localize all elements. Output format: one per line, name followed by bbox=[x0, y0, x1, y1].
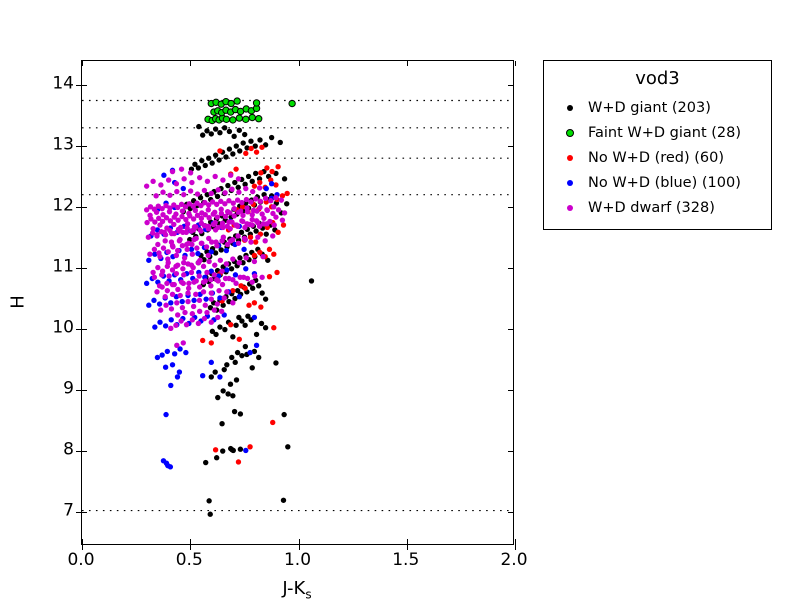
x-tick-mark bbox=[299, 539, 300, 544]
scatter-point bbox=[199, 158, 204, 163]
scatter-point bbox=[209, 131, 214, 136]
scatter-point bbox=[150, 270, 155, 275]
scatter-point bbox=[220, 177, 225, 182]
scatter-point bbox=[203, 303, 208, 308]
scatter-point bbox=[281, 412, 286, 417]
scatter-point bbox=[198, 228, 203, 233]
scatter-point bbox=[228, 382, 233, 387]
scatter-point bbox=[203, 296, 208, 301]
y-tick-mark bbox=[508, 146, 513, 147]
y-tick-mark bbox=[508, 85, 513, 86]
scatter-point bbox=[181, 192, 186, 197]
scatter-point bbox=[155, 242, 160, 247]
scatter-point bbox=[251, 208, 256, 213]
scatter-point bbox=[161, 245, 166, 250]
scatter-point bbox=[201, 264, 206, 269]
legend-title: vod3 bbox=[552, 68, 763, 91]
scatter-point bbox=[250, 286, 255, 291]
scatter-point bbox=[162, 294, 167, 299]
scatter-point bbox=[224, 289, 229, 294]
scatter-point bbox=[181, 176, 186, 181]
x-tick-label: 1.0 bbox=[284, 552, 311, 569]
scatter-point bbox=[200, 338, 205, 343]
scatter-point bbox=[197, 273, 202, 278]
scatter-point bbox=[223, 214, 228, 219]
scatter-point bbox=[212, 262, 217, 267]
scatter-point bbox=[174, 253, 179, 258]
scatter-point bbox=[230, 256, 235, 261]
scatter-point bbox=[230, 393, 235, 398]
scatter-point bbox=[270, 420, 275, 425]
scatter-point bbox=[238, 447, 243, 452]
scatter-point bbox=[188, 188, 193, 193]
scatter-point bbox=[253, 228, 258, 233]
y-tick-mark bbox=[82, 390, 87, 391]
scatter-point bbox=[217, 374, 222, 379]
scatter-point bbox=[239, 318, 244, 323]
scatter-point bbox=[215, 315, 220, 320]
y-axis-title: H bbox=[8, 295, 29, 309]
scatter-point bbox=[212, 272, 217, 277]
legend-entry-label: No W+D (blue) (100) bbox=[588, 176, 741, 191]
scatter-point bbox=[243, 344, 248, 349]
scatter-point bbox=[164, 281, 169, 286]
legend-marker-dot-icon bbox=[567, 205, 573, 211]
x-tick-mark bbox=[407, 539, 408, 544]
scatter-point bbox=[185, 299, 190, 304]
scatter-point bbox=[242, 286, 247, 291]
y-tick-mark bbox=[82, 146, 87, 147]
scatter-point bbox=[263, 196, 268, 201]
scatter-point bbox=[252, 253, 257, 258]
y-tick-mark bbox=[508, 207, 513, 208]
legend-entry-faint_wd_giant[interactable]: Faint W+D giant (28) bbox=[552, 121, 763, 146]
scatter-point bbox=[174, 343, 179, 348]
scatter-point bbox=[163, 412, 168, 417]
scatter-point bbox=[223, 116, 229, 122]
scatter-point bbox=[169, 231, 174, 236]
y-tick-mark bbox=[508, 451, 513, 452]
scatter-point bbox=[250, 189, 255, 194]
scatter-point bbox=[271, 252, 276, 257]
scatter-point bbox=[213, 332, 218, 337]
scatter-point bbox=[216, 288, 221, 293]
scatter-point bbox=[209, 340, 214, 345]
scatter-point bbox=[171, 222, 176, 227]
scatter-point bbox=[180, 299, 185, 304]
x-tick-mark bbox=[190, 539, 191, 544]
scatter-point bbox=[144, 281, 149, 286]
scatter-point bbox=[264, 165, 269, 170]
legend-marker-cell bbox=[552, 180, 588, 186]
scatter-point bbox=[227, 146, 232, 151]
scatter-point bbox=[222, 125, 227, 130]
scatter-point bbox=[253, 100, 259, 106]
scatter-point bbox=[245, 276, 250, 281]
scatter-point bbox=[264, 221, 269, 226]
scatter-point bbox=[270, 233, 275, 238]
scatter-point bbox=[238, 208, 243, 213]
scatter-point bbox=[249, 114, 255, 120]
scatter-point bbox=[159, 352, 164, 357]
scatter-point bbox=[170, 362, 175, 367]
scatter-point bbox=[177, 369, 182, 374]
legend-marker-cell bbox=[552, 205, 588, 211]
scatter-point bbox=[200, 132, 205, 137]
y-tick-mark bbox=[508, 512, 513, 513]
scatter-point bbox=[206, 259, 211, 264]
legend-entry-no_wd_blue[interactable]: No W+D (blue) (100) bbox=[552, 171, 763, 196]
scatter-point bbox=[274, 270, 279, 275]
scatter-point bbox=[216, 278, 221, 283]
scatter-point bbox=[195, 251, 200, 256]
scatter-point bbox=[217, 148, 222, 153]
scatter-point bbox=[206, 207, 211, 212]
scatter-point bbox=[280, 217, 285, 222]
scatter-point bbox=[174, 189, 179, 194]
scatter-point bbox=[216, 157, 221, 162]
legend-marker-dot-icon bbox=[567, 180, 573, 186]
scatter-point bbox=[237, 128, 242, 133]
scatter-point bbox=[228, 100, 234, 106]
scatter-point bbox=[169, 317, 174, 322]
scatter-point bbox=[158, 307, 163, 312]
scatter-point bbox=[197, 284, 202, 289]
scatter-point bbox=[209, 296, 214, 301]
scatter-point bbox=[146, 258, 151, 263]
scatter-point bbox=[262, 238, 267, 243]
figure-canvas: 7891011121314 0.00.51.01.52.0 H J-Ks vod… bbox=[0, 0, 812, 612]
scatter-point bbox=[197, 309, 202, 314]
scatter-point bbox=[178, 293, 183, 298]
scatter-point bbox=[273, 360, 278, 365]
y-tick-label: 14 bbox=[52, 76, 74, 93]
scatter-point bbox=[255, 235, 260, 240]
scatter-point bbox=[237, 294, 242, 299]
scatter-point bbox=[246, 174, 251, 179]
scatter-point bbox=[256, 283, 261, 288]
scatter-point bbox=[242, 132, 247, 137]
scatter-point bbox=[244, 255, 249, 260]
scatter-point bbox=[250, 279, 255, 284]
scatter-point bbox=[260, 254, 265, 259]
scatter-point bbox=[205, 179, 210, 184]
scatter-point bbox=[237, 337, 242, 342]
scatter-point bbox=[241, 247, 246, 252]
scatter-point bbox=[177, 238, 182, 243]
scatter-point bbox=[271, 204, 276, 209]
scatter-point bbox=[150, 226, 155, 231]
y-tick-mark bbox=[82, 451, 87, 452]
scatter-point bbox=[224, 267, 229, 272]
scatter-point bbox=[194, 278, 199, 283]
scatter-point bbox=[230, 151, 235, 156]
legend-entry-wd_giant[interactable]: W+D giant (203) bbox=[552, 96, 763, 121]
scatter-point bbox=[163, 303, 168, 308]
scatter-point bbox=[152, 275, 157, 280]
scatter-point bbox=[173, 264, 178, 269]
scatter-point bbox=[193, 208, 198, 213]
scatter-point bbox=[247, 444, 252, 449]
y-tick-mark bbox=[82, 329, 87, 330]
scatter-point bbox=[199, 221, 204, 226]
scatter-point bbox=[309, 278, 314, 283]
scatter-point bbox=[213, 239, 218, 244]
scatter-point bbox=[221, 235, 226, 240]
scatter-point bbox=[151, 298, 156, 303]
scatter-point bbox=[256, 355, 261, 360]
scatter-point bbox=[197, 298, 202, 303]
y-tick-mark bbox=[508, 268, 513, 269]
legend-marker-cell bbox=[552, 155, 588, 161]
scatter-point bbox=[254, 149, 259, 154]
scatter-point bbox=[242, 225, 247, 230]
legend-entry-wd_dwarf[interactable]: W+D dwarf (328) bbox=[552, 196, 763, 221]
scatter-point bbox=[234, 377, 239, 382]
scatter-point bbox=[219, 269, 224, 274]
scatter-point bbox=[259, 290, 264, 295]
scatter-point bbox=[204, 128, 209, 133]
scatter-point bbox=[191, 237, 196, 242]
scatter-point bbox=[206, 226, 211, 231]
scatter-point bbox=[233, 323, 238, 328]
scatter-point bbox=[202, 316, 207, 321]
scatter-point bbox=[224, 362, 229, 367]
scatter-point bbox=[248, 239, 253, 244]
scatter-point bbox=[212, 220, 217, 225]
legend-entry-label: Faint W+D giant (28) bbox=[588, 126, 741, 141]
scatter-point bbox=[152, 247, 157, 252]
scatter-point bbox=[175, 287, 180, 292]
scatter-point bbox=[269, 169, 274, 174]
y-tick-label: 13 bbox=[52, 137, 74, 154]
scatter-point bbox=[157, 320, 162, 325]
scatter-point bbox=[161, 173, 166, 178]
y-tick-label: 12 bbox=[52, 198, 74, 215]
scatter-point bbox=[269, 135, 274, 140]
scatter-point bbox=[231, 206, 236, 211]
scatter-point bbox=[197, 175, 202, 180]
scatter-point bbox=[257, 205, 262, 210]
scatter-point bbox=[259, 275, 264, 280]
scatter-point bbox=[186, 281, 191, 286]
scatter-point bbox=[184, 322, 189, 327]
scatter-point bbox=[174, 181, 179, 186]
x-tick-mark bbox=[515, 61, 516, 66]
scatter-point bbox=[230, 334, 235, 339]
scatter-point bbox=[180, 305, 185, 310]
scatter-point bbox=[166, 273, 171, 278]
scatter-point bbox=[248, 235, 253, 240]
scatter-point bbox=[225, 183, 230, 188]
y-axis-tick-labels: 7891011121314 bbox=[30, 60, 74, 545]
x-tick-mark bbox=[82, 61, 83, 66]
scatter-point bbox=[186, 211, 191, 216]
scatter-point bbox=[200, 373, 205, 378]
x-tick-mark bbox=[515, 539, 516, 544]
scatter-point bbox=[181, 272, 186, 277]
x-axis-tick-labels: 0.00.51.01.52.0 bbox=[81, 552, 514, 576]
scatter-point bbox=[202, 188, 207, 193]
scatter-point bbox=[215, 301, 220, 306]
scatter-point bbox=[184, 247, 189, 252]
scatter-point bbox=[239, 200, 244, 205]
scatter-points-layer bbox=[82, 61, 513, 544]
scatter-point bbox=[162, 230, 167, 235]
scatter-point bbox=[264, 207, 269, 212]
scatter-point bbox=[206, 498, 211, 503]
scatter-point bbox=[276, 207, 281, 212]
scatter-point bbox=[235, 224, 240, 229]
scatter-point bbox=[250, 179, 255, 184]
scatter-point bbox=[272, 222, 277, 227]
scatter-point bbox=[222, 295, 227, 300]
scatter-point bbox=[220, 448, 225, 453]
scatter-point bbox=[233, 166, 238, 171]
scatter-point bbox=[244, 197, 249, 202]
scatter-point bbox=[176, 228, 181, 233]
scatter-point bbox=[189, 270, 194, 275]
scatter-point bbox=[196, 321, 201, 326]
scatter-point bbox=[223, 154, 228, 159]
scatter-point bbox=[236, 459, 241, 464]
scatter-point bbox=[185, 221, 190, 226]
y-tick-label: 9 bbox=[63, 381, 74, 398]
scatter-point bbox=[203, 163, 208, 168]
scatter-point bbox=[257, 180, 262, 185]
scatter-point bbox=[254, 332, 259, 337]
scatter-point bbox=[257, 185, 262, 190]
scatter-point bbox=[172, 282, 177, 287]
scatter-point bbox=[170, 169, 175, 174]
scatter-point bbox=[165, 349, 170, 354]
scatter-point bbox=[281, 498, 286, 503]
x-axis-title-subscript: s bbox=[305, 588, 311, 602]
scatter-point bbox=[217, 324, 222, 329]
scatter-point bbox=[209, 290, 214, 295]
scatter-point bbox=[264, 231, 269, 236]
scatter-point bbox=[160, 212, 165, 217]
scatter-point bbox=[252, 183, 257, 188]
scatter-point bbox=[224, 248, 229, 253]
scatter-point bbox=[204, 244, 209, 249]
scatter-point bbox=[196, 124, 201, 129]
legend-entries: W+D giant (203)Faint W+D giant (28)No W+… bbox=[552, 96, 763, 221]
scatter-point bbox=[237, 148, 242, 153]
scatter-point bbox=[223, 276, 228, 281]
x-tick-mark bbox=[407, 61, 408, 66]
scatter-point bbox=[270, 211, 275, 216]
scatter-point bbox=[258, 199, 263, 204]
scatter-point bbox=[236, 241, 241, 246]
x-tick-mark bbox=[299, 61, 300, 66]
scatter-point bbox=[203, 460, 208, 465]
scatter-point bbox=[181, 340, 186, 345]
scatter-point bbox=[235, 350, 240, 355]
scatter-point bbox=[220, 388, 225, 393]
scatter-point bbox=[247, 350, 252, 355]
scatter-point bbox=[257, 224, 262, 229]
scatter-point bbox=[212, 210, 217, 215]
scatter-point bbox=[243, 116, 249, 122]
scatter-point bbox=[206, 156, 211, 161]
scatter-point bbox=[279, 197, 284, 202]
y-tick-mark bbox=[82, 207, 87, 208]
scatter-point bbox=[157, 283, 162, 288]
scatter-point bbox=[264, 186, 269, 191]
scatter-point bbox=[175, 374, 180, 379]
scatter-point bbox=[212, 369, 217, 374]
scatter-point bbox=[253, 171, 258, 176]
scatter-point bbox=[253, 239, 258, 244]
scatter-point bbox=[166, 249, 171, 254]
x-tick-label: 0.5 bbox=[176, 552, 203, 569]
scatter-point bbox=[233, 360, 238, 365]
scatter-point bbox=[213, 227, 218, 232]
scatter-point bbox=[282, 210, 287, 215]
y-tick-label: 7 bbox=[63, 503, 74, 520]
scatter-point bbox=[215, 395, 220, 400]
scatter-point bbox=[168, 326, 173, 331]
scatter-point bbox=[175, 312, 180, 317]
legend-entry-label: W+D giant (203) bbox=[588, 101, 711, 116]
legend-entry-no_wd_red[interactable]: No W+D (red) (60) bbox=[552, 146, 763, 171]
scatter-point bbox=[206, 253, 211, 258]
scatter-point bbox=[157, 301, 162, 306]
scatter-point bbox=[222, 367, 227, 372]
scatter-point bbox=[158, 182, 163, 187]
scatter-point bbox=[284, 201, 289, 206]
scatter-point bbox=[275, 164, 280, 169]
scatter-point bbox=[248, 199, 253, 204]
scatter-point bbox=[201, 279, 206, 284]
scatter-point bbox=[209, 374, 214, 379]
scatter-point bbox=[229, 187, 234, 192]
scatter-point bbox=[235, 233, 240, 238]
scatter-point bbox=[189, 262, 194, 267]
scatter-point bbox=[184, 242, 189, 247]
scatter-point bbox=[228, 238, 233, 243]
scatter-point bbox=[182, 255, 187, 260]
scatter-point bbox=[197, 259, 202, 264]
scatter-point bbox=[196, 165, 201, 170]
scatter-point bbox=[238, 411, 243, 416]
scatter-point bbox=[173, 211, 178, 216]
scatter-point bbox=[258, 170, 263, 175]
scatter-point bbox=[243, 237, 248, 242]
scatter-point bbox=[256, 116, 262, 122]
x-axis-title: J-Ks bbox=[282, 578, 311, 602]
scatter-point bbox=[234, 143, 239, 148]
scatter-point bbox=[204, 310, 209, 315]
scatter-point bbox=[250, 365, 255, 370]
scatter-point bbox=[179, 166, 184, 171]
legend-marker-cell bbox=[552, 105, 588, 111]
scatter-point bbox=[170, 243, 175, 248]
scatter-point bbox=[230, 277, 235, 282]
scatter-point bbox=[241, 140, 246, 145]
scatter-point bbox=[168, 383, 173, 388]
scatter-point bbox=[183, 350, 188, 355]
scatter-point bbox=[212, 174, 217, 179]
scatter-point bbox=[188, 170, 193, 175]
y-tick-label: 11 bbox=[52, 259, 74, 276]
scatter-point bbox=[191, 298, 196, 303]
scatter-point bbox=[243, 266, 248, 271]
legend-marker-dot-icon bbox=[566, 129, 574, 137]
scatter-point bbox=[228, 446, 233, 451]
scatter-point bbox=[181, 186, 186, 191]
